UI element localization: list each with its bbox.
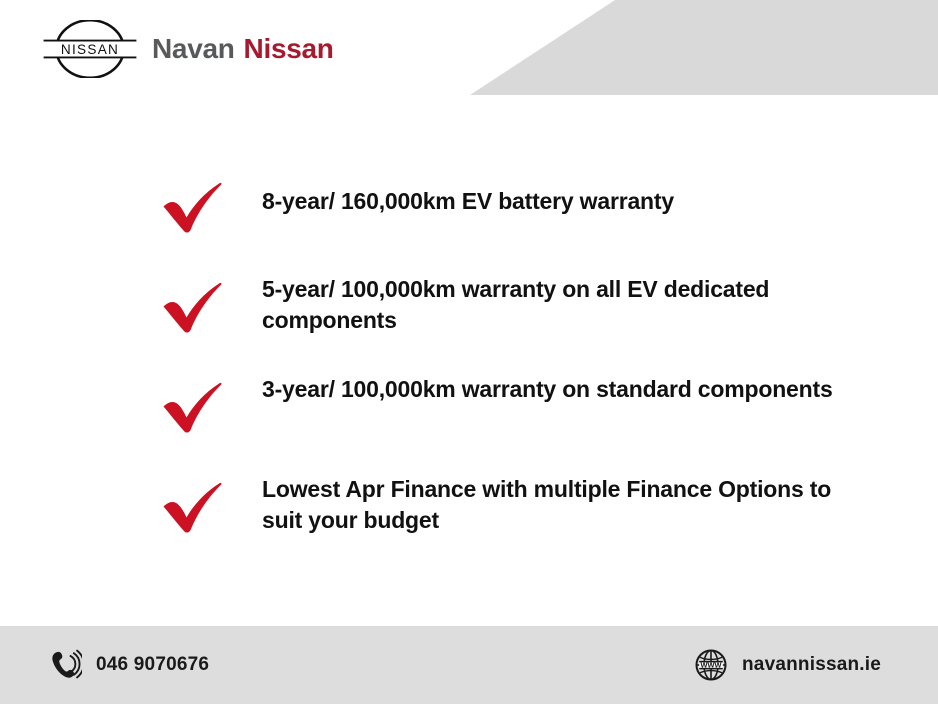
list-item: Lowest Apr Finance with multiple Finance… (160, 466, 860, 538)
benefits-list: 8-year/ 160,000km EV battery warranty 5-… (160, 178, 860, 538)
red-checkmark-icon (160, 380, 232, 438)
brand-word-nissan: Nissan (244, 33, 334, 64)
list-item-label: 8-year/ 160,000km EV battery warranty (262, 178, 860, 217)
list-item-label: 5-year/ 100,000km warranty on all EV ded… (262, 266, 860, 336)
nissan-logo-icon: NISSAN (42, 20, 138, 78)
phone-number: 046 9070676 (96, 654, 209, 676)
phone-contact[interactable]: 046 9070676 (48, 648, 209, 682)
corner-accent-band (470, 0, 938, 95)
brand-word-navan: Navan (152, 33, 235, 64)
red-checkmark-icon (160, 180, 232, 238)
globe-www-icon: WWW (694, 648, 728, 682)
globe-www-label: WWW (701, 661, 722, 670)
red-checkmark-icon (160, 480, 232, 538)
website-url: navannissan.ie (742, 654, 881, 676)
brand-wordmark: NavanNissan (152, 35, 334, 63)
svg-text:NISSAN: NISSAN (61, 42, 119, 57)
website-contact[interactable]: WWW navannissan.ie (694, 648, 881, 682)
list-item-label: 3-year/ 100,000km warranty on standard c… (262, 366, 860, 405)
phone-icon (48, 648, 82, 682)
list-item: 5-year/ 100,000km warranty on all EV ded… (160, 266, 860, 338)
flyer-page: NISSAN NavanNissan 8-year/ 160,000km EV … (0, 0, 938, 704)
footer-bar: 046 9070676 WWW (0, 626, 938, 704)
red-checkmark-icon (160, 280, 232, 338)
list-item: 8-year/ 160,000km EV battery warranty (160, 178, 860, 238)
list-item-label: Lowest Apr Finance with multiple Finance… (262, 466, 860, 536)
list-item: 3-year/ 100,000km warranty on standard c… (160, 366, 860, 438)
brand-header: NISSAN NavanNissan (42, 18, 334, 80)
